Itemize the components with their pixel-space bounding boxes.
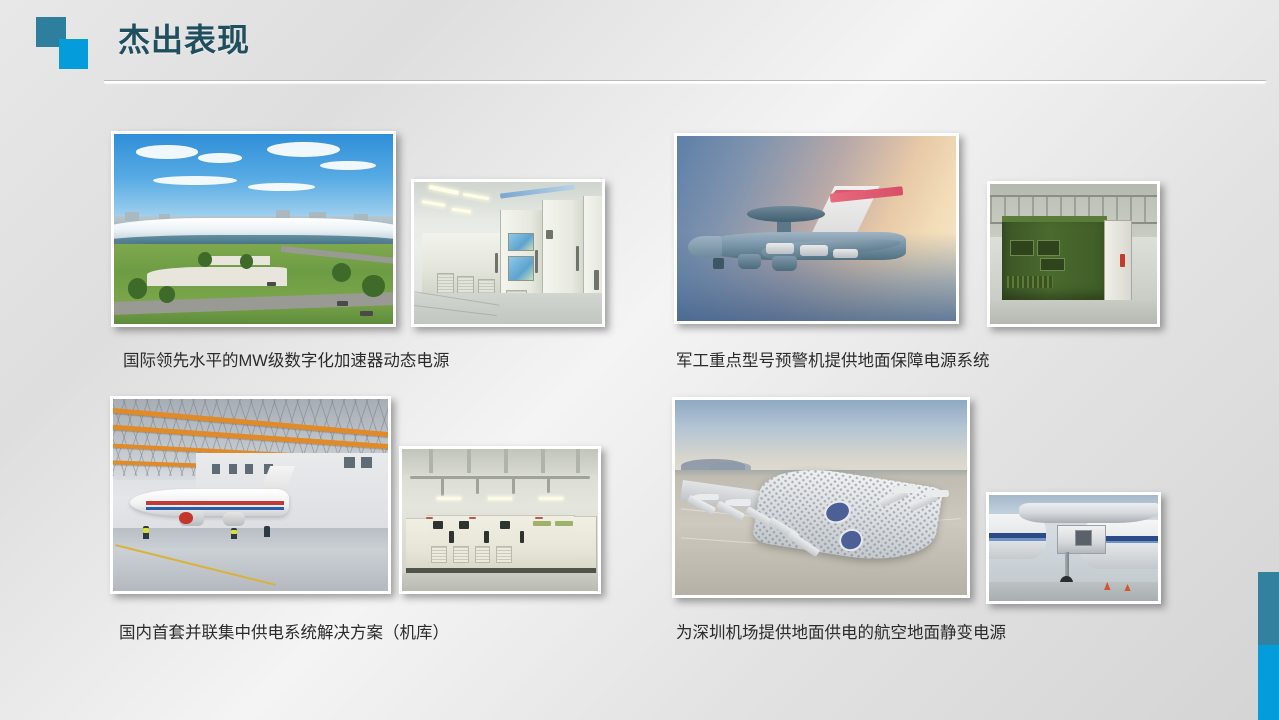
page-title: 杰出表现: [118, 18, 250, 62]
tree-shape: [198, 252, 212, 267]
ceiling-beam: [429, 449, 433, 473]
cabinet-display-screen: [508, 256, 534, 281]
aircraft-livery-stripe-blue: [146, 507, 284, 511]
worker-hiviz-vest: [231, 530, 237, 535]
edge-accent-bottom-segment: [1258, 645, 1279, 720]
landing-gear-pod: [738, 254, 760, 269]
aircraft-hangar-scene: [113, 399, 388, 591]
ceiling-beam: [467, 449, 471, 473]
cabinet-nameplate: [469, 517, 477, 519]
military-green-shelter-scene: [990, 184, 1157, 324]
livery-stripe-blue: [989, 533, 1046, 538]
item-caption-2: 军工重点型号预警机提供地面保障电源系统: [676, 350, 990, 372]
cabinet-handle: [484, 531, 489, 542]
wall-window: [212, 464, 220, 474]
wall-window: [245, 464, 253, 474]
hangar-floor: [113, 528, 388, 591]
slide-canvas: 杰出表现: [0, 0, 1279, 720]
city-block: [125, 212, 139, 222]
cabinet-handle: [520, 531, 525, 542]
cloud-shape: [248, 183, 315, 191]
ceiling-conduit: [410, 476, 590, 479]
aircraft-engine: [223, 512, 245, 525]
ceiling-beam: [576, 449, 580, 473]
aircraft-nose: [688, 236, 721, 258]
parked-aircraft: [725, 499, 751, 506]
car-shape: [360, 311, 374, 317]
tree-shape: [362, 275, 384, 298]
power-cabinet: [406, 518, 429, 573]
cabinet-vent-grill: [431, 546, 447, 564]
aircraft-engine: [800, 245, 828, 256]
cabinet-handle: [594, 270, 599, 290]
cabinet-meter-panel: [433, 521, 443, 528]
aircraft-livery-stripe-red: [146, 501, 284, 506]
shelter-hatch: [1040, 258, 1065, 271]
apron-ground: [989, 582, 1158, 601]
fire-extinguisher: [1120, 254, 1124, 267]
beige-power-cabinet-room-scene: [402, 449, 598, 591]
car-shape: [267, 282, 275, 286]
cloud-shape: [320, 161, 376, 171]
aircraft-wing-underside: [1019, 503, 1158, 522]
power-cabinet: [471, 515, 494, 573]
plaza-paving: [147, 267, 287, 286]
cabinet-vent-grill: [496, 546, 512, 564]
cabinet-meter-panel: [500, 521, 510, 528]
cabinet-handle: [449, 531, 454, 542]
cloud-shape: [198, 153, 243, 163]
item-caption-4: 为深圳机场提供地面供电的航空地面静变电源: [676, 622, 1006, 644]
parked-aircraft: [923, 490, 949, 497]
ground-power-connector-panel: [1075, 530, 1092, 546]
wall-lamp: [488, 497, 512, 500]
cabinet-handle: [576, 246, 579, 272]
title-divider: [104, 80, 1266, 83]
aircraft-engine: [766, 243, 794, 254]
wall-window: [344, 457, 355, 469]
shelter-open-door: [1104, 220, 1133, 305]
wall-lamp: [437, 497, 461, 500]
conduit-drop: [547, 476, 550, 493]
cabinet-handle: [495, 253, 498, 273]
power-cabinet-corridor-scene: [414, 182, 602, 324]
military-green-shelter-photo: [987, 181, 1160, 327]
accelerator-facility-aerial-photo: [111, 131, 396, 327]
cabinet-handle: [535, 250, 538, 273]
edge-accent-top-segment: [1258, 572, 1279, 645]
power-cabinet-corridor-photo: [411, 179, 605, 327]
shelter-vent-grill: [1007, 276, 1054, 287]
cabinet-nameplate: [426, 517, 434, 519]
ground-pavement: [990, 300, 1157, 324]
shenzhen-airport-terminal-scene: [675, 400, 967, 595]
cloud-shape: [136, 145, 197, 158]
engine-intake-cover: [179, 512, 193, 524]
decorative-square-bright-icon: [59, 39, 88, 69]
cabinet-label-strip: [533, 521, 551, 525]
parked-aircraft: [891, 486, 917, 493]
wall-window: [229, 464, 237, 474]
power-cabinet: [574, 516, 597, 572]
cabinet-label-strip: [555, 521, 573, 525]
cabinet-vent-grill: [475, 546, 491, 564]
wall-lamp: [539, 497, 563, 500]
nose-landing-gear: [713, 258, 724, 269]
shelter-panel: [1010, 240, 1034, 256]
conduit-drop: [512, 476, 515, 494]
parked-aircraft: [693, 494, 719, 501]
rotodome-radar-disc: [747, 206, 825, 222]
ceiling-beam: [541, 449, 545, 473]
aircraft-hangar-photo: [110, 396, 391, 594]
car-shape: [337, 301, 348, 306]
conduit-drop: [441, 476, 444, 496]
livery-stripe-light: [989, 538, 1046, 541]
accelerator-facility-scene: [114, 134, 393, 324]
beige-power-cabinet-room-photo: [399, 446, 601, 594]
cabinet-switch: [546, 230, 554, 239]
cabinet-nameplate: [535, 517, 543, 519]
landing-gear-pod: [772, 256, 797, 271]
item-caption-3: 国内首套并联集中供电系统解决方案（机库）: [119, 622, 449, 644]
floor-layer: [402, 573, 598, 591]
cloud-shape: [267, 142, 340, 157]
cabinet-vent-grill: [453, 546, 469, 564]
awacs-aircraft-scene: [677, 136, 956, 321]
awacs-aircraft-photo: [674, 133, 959, 324]
aircraft-engine: [833, 249, 858, 258]
ceiling-beam: [504, 449, 508, 473]
slide-header: 杰出表现: [0, 0, 1279, 88]
shelter-panel: [1037, 240, 1061, 256]
aircraft-ground-power-scene: [989, 495, 1158, 601]
edge-accent-bar: [1258, 572, 1279, 720]
item-caption-1: 国际领先水平的MW级数字化加速器动态电源: [123, 350, 449, 372]
ground-crew-worker: [264, 526, 270, 538]
cabinet-meter-panel: [459, 521, 469, 528]
worker-hiviz-vest: [143, 528, 149, 534]
wall-window: [361, 457, 372, 469]
cabinet-display-screen: [508, 233, 534, 251]
aircraft-ground-power-photo: [986, 492, 1161, 604]
shenzhen-airport-terminal-photo: [672, 397, 970, 598]
